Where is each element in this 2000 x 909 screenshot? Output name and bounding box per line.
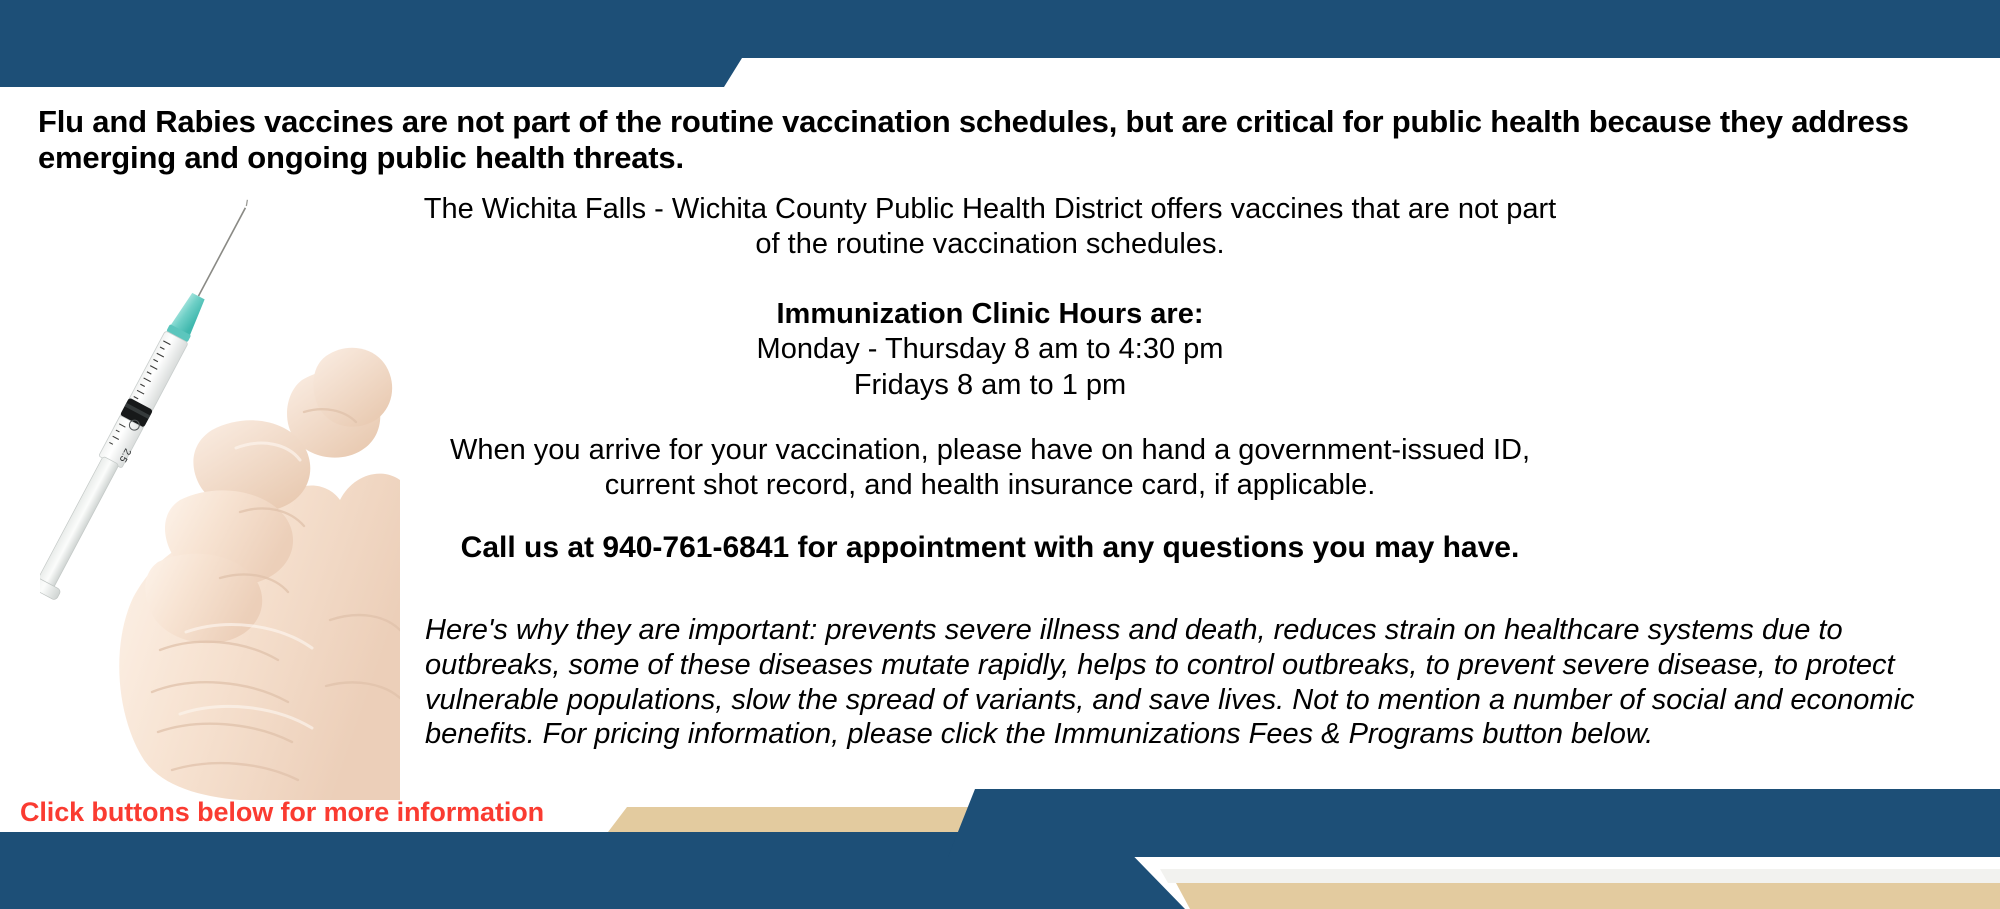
bottom-tan-band-lower bbox=[1176, 883, 2000, 909]
intro-paragraph: The Wichita Falls - Wichita County Publi… bbox=[420, 192, 1560, 263]
bottom-white-stripe bbox=[1160, 869, 2000, 883]
bottom-blue-band bbox=[0, 832, 1185, 909]
spacer bbox=[420, 403, 1560, 433]
gloved-hand-holding-syringe-image: 2.5 bbox=[40, 180, 400, 800]
spacer bbox=[420, 504, 1560, 530]
page-headline: Flu and Rabies vaccines are not part of … bbox=[38, 104, 1968, 177]
click-buttons-below-note: Click buttons below for more information bbox=[20, 797, 544, 828]
syringe-plunger-rod bbox=[40, 456, 119, 595]
call-for-appointment-line[interactable]: Call us at 940-761-6841 for appointment … bbox=[420, 530, 1560, 567]
syringe-needle bbox=[198, 208, 245, 296]
latex-glove-hand bbox=[119, 348, 400, 800]
clinic-hours-line-weekdays: Monday - Thursday 8 am to 4:30 pm bbox=[420, 332, 1560, 367]
clinic-hours-title: Immunization Clinic Hours are: bbox=[420, 297, 1560, 332]
bottom-blue-parallelogram bbox=[948, 789, 2000, 857]
body-content-column: The Wichita Falls - Wichita County Publi… bbox=[420, 192, 1560, 566]
clinic-hours-line-friday: Fridays 8 am to 1 pm bbox=[420, 368, 1560, 403]
why-important-paragraph: Here's why they are important: prevents … bbox=[425, 613, 1970, 752]
arrival-requirements-paragraph: When you arrive for your vaccination, pl… bbox=[420, 433, 1560, 504]
top-banner-decoration bbox=[0, 0, 2000, 90]
promo-banner-page: 2.5 bbox=[0, 0, 2000, 909]
syringe-needle-tip bbox=[245, 200, 250, 206]
top-banner-blue-shape bbox=[0, 0, 2000, 87]
spacer bbox=[420, 263, 1560, 297]
glove-thumb bbox=[313, 348, 392, 427]
